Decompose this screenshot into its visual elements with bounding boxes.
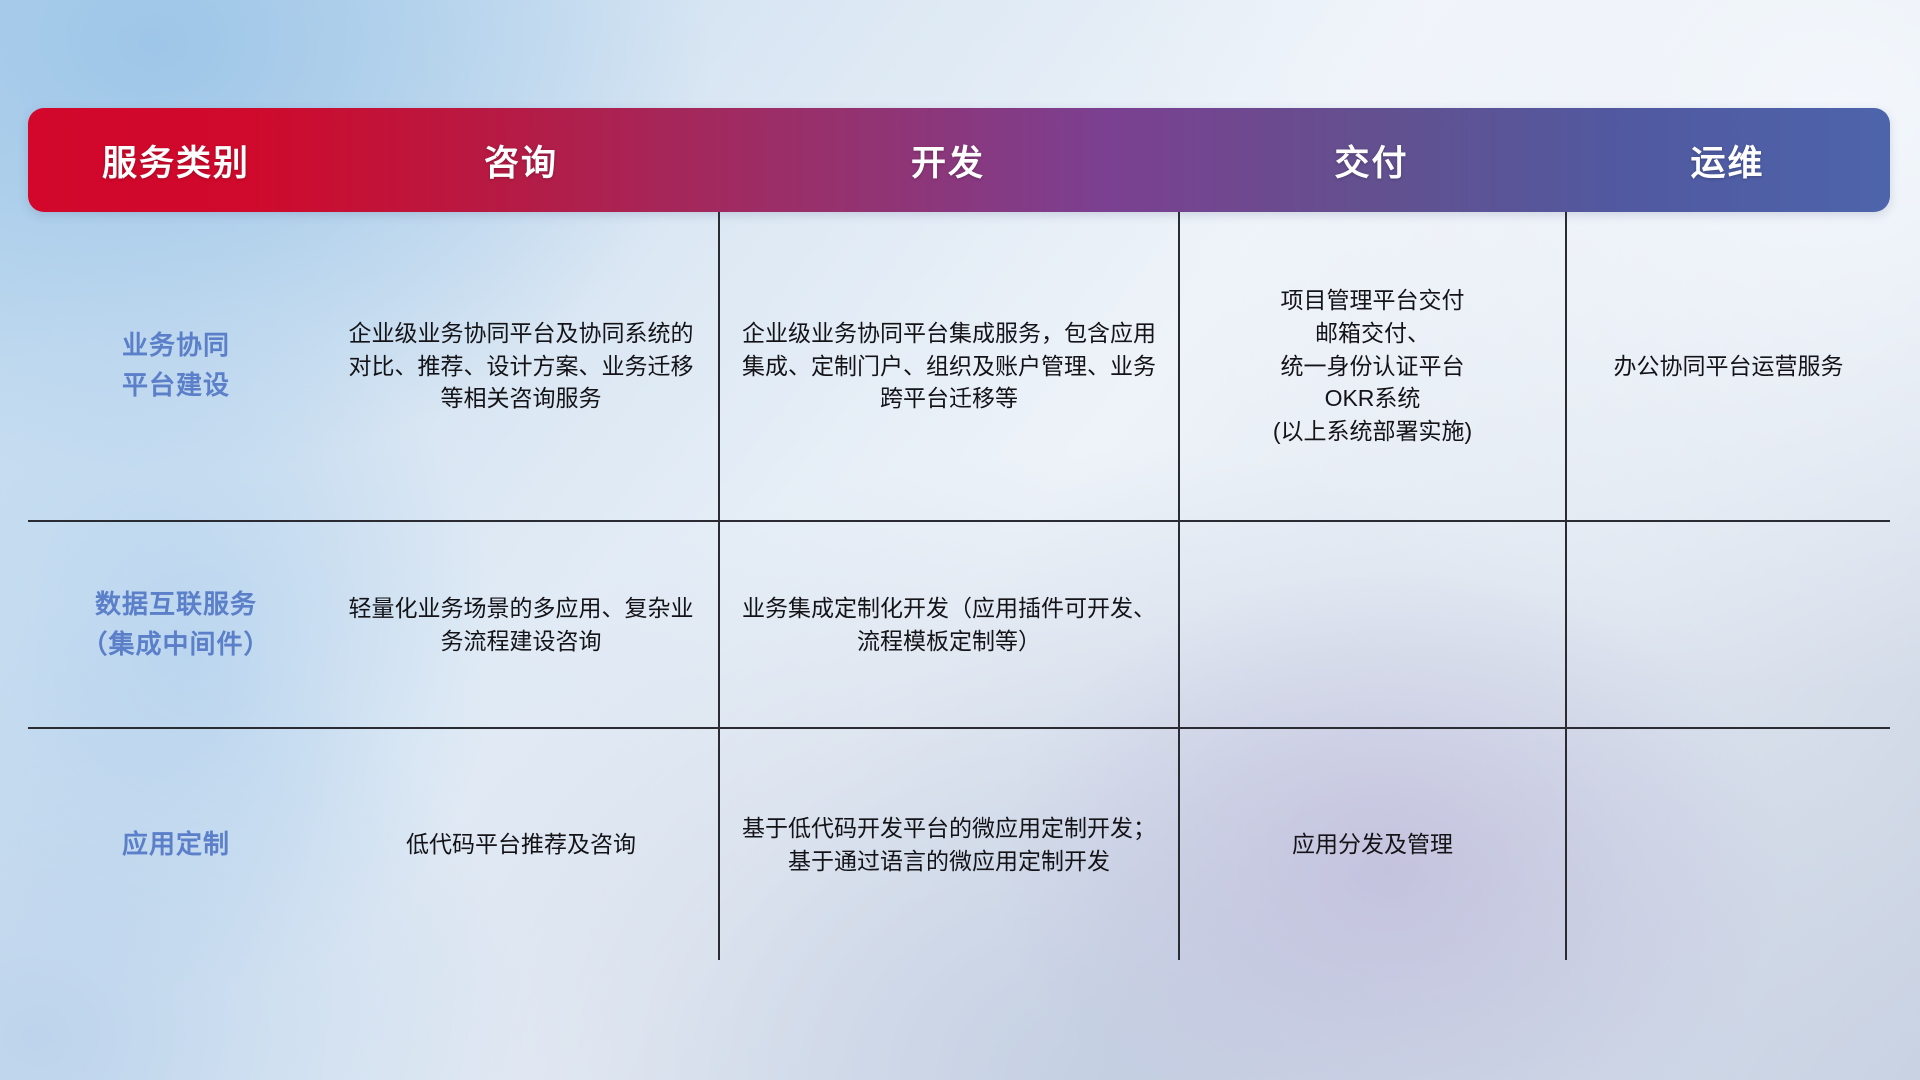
cell-consulting: 轻量化业务场景的多应用、复杂业务流程建设咨询 xyxy=(324,522,718,727)
cell-delivery: 项目管理平台交付 邮箱交付、 统一身份认证平台 OKR系统 (以上系统部署实施) xyxy=(1178,212,1565,520)
row-category-label: 业务协同 平台建设 xyxy=(28,212,324,520)
column-header-consulting: 咨询 xyxy=(324,108,718,212)
table-row: 业务协同 平台建设 企业级业务协同平台及协同系统的对比、推荐、设计方案、业务迁移… xyxy=(28,212,1890,520)
table-header-row: 服务类别 咨询 开发 交付 运维 xyxy=(28,108,1890,212)
column-header-operations: 运维 xyxy=(1565,108,1890,212)
cell-development: 企业级业务协同平台集成服务，包含应用集成、定制门户、组织及账户管理、业务跨平台迁… xyxy=(718,212,1178,520)
column-header-delivery: 交付 xyxy=(1178,108,1565,212)
table-body: 业务协同 平台建设 企业级业务协同平台及协同系统的对比、推荐、设计方案、业务迁移… xyxy=(28,212,1890,960)
cell-operations: 办公协同平台运营服务 xyxy=(1565,212,1890,520)
table-row: 应用定制 低代码平台推荐及咨询 基于低代码开发平台的微应用定制开发； 基于通过语… xyxy=(28,727,1890,960)
cell-development: 基于低代码开发平台的微应用定制开发； 基于通过语言的微应用定制开发 xyxy=(718,729,1178,960)
cell-delivery xyxy=(1178,522,1565,727)
cell-operations xyxy=(1565,729,1890,960)
cell-development: 业务集成定制化开发（应用插件可开发、流程模板定制等） xyxy=(718,522,1178,727)
table-row: 数据互联服务 （集成中间件） 轻量化业务场景的多应用、复杂业务流程建设咨询 业务… xyxy=(28,520,1890,727)
cell-delivery: 应用分发及管理 xyxy=(1178,729,1565,960)
column-header-development: 开发 xyxy=(718,108,1178,212)
service-matrix-table: 服务类别 咨询 开发 交付 运维 业务协同 平台建设 企业级业务协同平台及协同系… xyxy=(28,108,1890,960)
column-header-category: 服务类别 xyxy=(28,108,324,212)
row-category-label: 数据互联服务 （集成中间件） xyxy=(28,522,324,727)
row-category-label: 应用定制 xyxy=(28,729,324,960)
cell-consulting: 企业级业务协同平台及协同系统的对比、推荐、设计方案、业务迁移等相关咨询服务 xyxy=(324,212,718,520)
cell-operations xyxy=(1565,522,1890,727)
cell-consulting: 低代码平台推荐及咨询 xyxy=(324,729,718,960)
